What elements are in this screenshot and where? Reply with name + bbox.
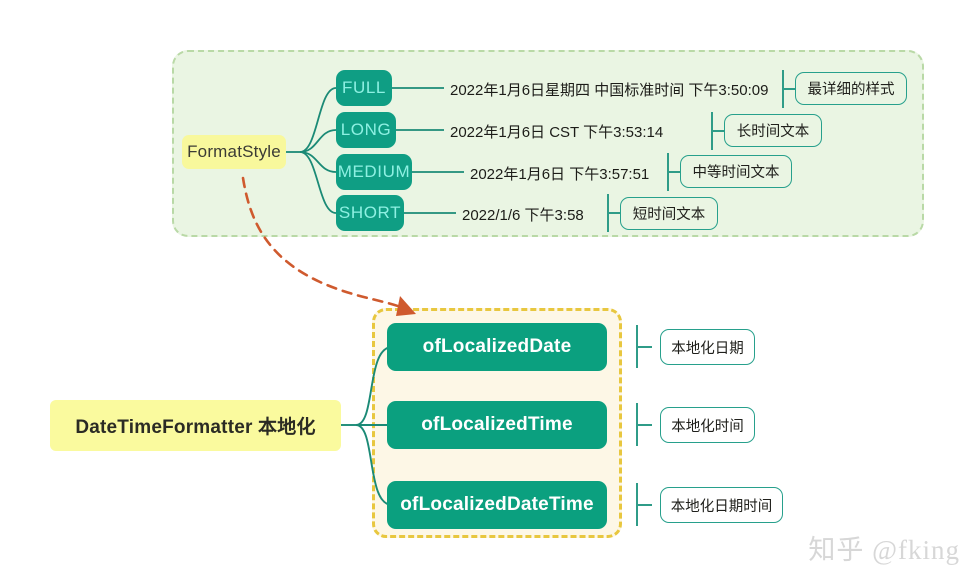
node-style-short[interactable]: SHORT	[336, 195, 404, 231]
note-box-full-label: 最详细的样式	[808, 78, 895, 99]
node-style-full[interactable]: FULL	[336, 70, 392, 106]
node-style-full-label: FULL	[342, 78, 386, 98]
example-text-medium: 2022年1月6日 下午3:57:51	[470, 163, 649, 184]
node-style-short-label: SHORT	[339, 203, 401, 223]
note-box-of-localized-date-label: 本地化日期	[671, 337, 744, 358]
note-box-medium[interactable]: 中等时间文本	[680, 155, 792, 188]
note-box-short[interactable]: 短时间文本	[620, 197, 718, 230]
example-text-short: 2022/1/6 下午3:58	[462, 204, 584, 225]
node-of-localized-date[interactable]: ofLocalizedDate	[387, 323, 607, 371]
node-style-long[interactable]: LONG	[336, 112, 396, 148]
node-date-time-formatter[interactable]: DateTimeFormatter 本地化	[50, 400, 341, 451]
node-of-localized-date-time[interactable]: ofLocalizedDateTime	[387, 481, 607, 529]
example-text-full: 2022年1月6日星期四 中国标准时间 下午3:50:09	[450, 79, 768, 100]
note-box-of-localized-date[interactable]: 本地化日期	[660, 329, 755, 365]
mindmap-canvas: FormatStyle FULL LONG MEDIUM SHORT 2022年…	[0, 0, 978, 587]
node-of-localized-time[interactable]: ofLocalizedTime	[387, 401, 607, 449]
example-text-long: 2022年1月6日 CST 下午3:53:14	[450, 121, 663, 142]
note-box-full[interactable]: 最详细的样式	[795, 72, 907, 105]
node-of-localized-date-time-label: ofLocalizedDateTime	[400, 494, 594, 516]
node-of-localized-time-label: ofLocalizedTime	[421, 414, 573, 436]
node-style-medium[interactable]: MEDIUM	[336, 154, 412, 190]
note-box-long[interactable]: 长时间文本	[724, 114, 822, 147]
node-format-style-label: FormatStyle	[187, 142, 281, 162]
note-box-of-localized-time-label: 本地化时间	[671, 415, 744, 436]
node-date-time-formatter-label: DateTimeFormatter 本地化	[75, 412, 315, 439]
node-of-localized-date-label: ofLocalizedDate	[423, 336, 572, 358]
note-box-long-label: 长时间文本	[737, 120, 810, 141]
note-box-of-localized-time[interactable]: 本地化时间	[660, 407, 755, 443]
note-box-of-localized-date-time-label: 本地化日期时间	[671, 495, 773, 516]
note-box-short-label: 短时间文本	[633, 203, 706, 224]
note-box-medium-label: 中等时间文本	[693, 161, 780, 182]
node-format-style[interactable]: FormatStyle	[182, 135, 286, 169]
watermark: 知乎 @fking	[808, 528, 960, 567]
node-style-medium-label: MEDIUM	[338, 162, 411, 182]
node-style-long-label: LONG	[341, 120, 392, 140]
note-box-of-localized-date-time[interactable]: 本地化日期时间	[660, 487, 783, 523]
